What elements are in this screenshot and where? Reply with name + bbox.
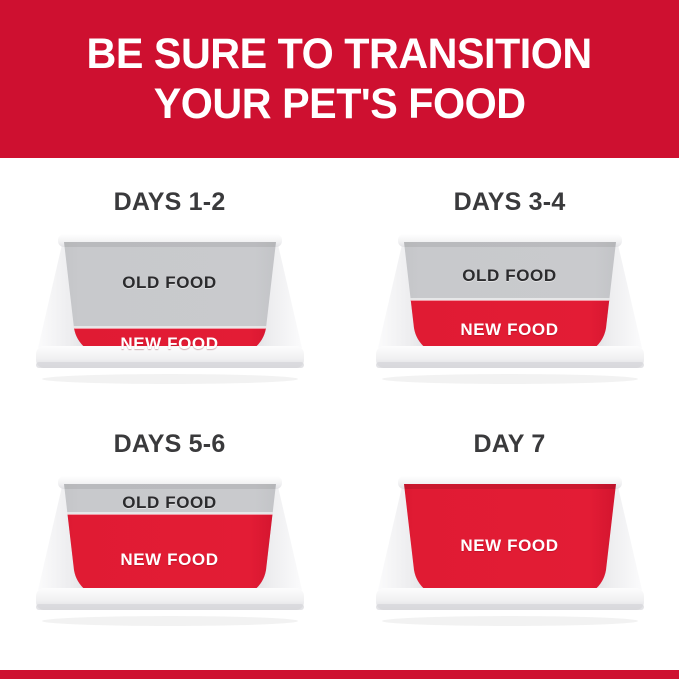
bowl-cell-days-5-6: DAYS 5-6 (0, 416, 339, 666)
bowl-cell-day-7: DAY 7 (340, 416, 679, 666)
day-label-1: DAYS 3-4 (340, 188, 679, 217)
bowl-cell-days-1-2: DAYS 1-2 (0, 174, 339, 424)
bowl-illustration-3: NEW FOOD (368, 466, 652, 628)
bowl-illustration-0: OLD FOOD NEW FOOD (28, 224, 312, 386)
bowl-graphic-1 (368, 224, 652, 386)
bowl-graphic-3 (368, 466, 652, 628)
headline-line-1: BE SURE TO TRANSITION (87, 29, 592, 79)
bowl-grid: DAYS 1-2 (0, 158, 679, 670)
day-label-2: DAYS 5-6 (0, 430, 339, 459)
headline-line-2: YOUR PET'S FOOD (154, 79, 526, 129)
bowl-cell-days-3-4: DAYS 3-4 (340, 174, 679, 424)
day-label-0: DAYS 1-2 (0, 188, 339, 217)
day-label-3: DAY 7 (340, 430, 679, 459)
bowl-graphic-0 (28, 224, 312, 386)
header-banner: BE SURE TO TRANSITION YOUR PET'S FOOD (0, 0, 679, 158)
bowl-illustration-1: OLD FOOD NEW FOOD (368, 224, 652, 386)
bowl-graphic-2 (28, 466, 312, 628)
pet-food-transition-infographic: BE SURE TO TRANSITION YOUR PET'S FOOD DA… (0, 0, 679, 679)
bowl-illustration-2: OLD FOOD NEW FOOD (28, 466, 312, 628)
footer-accent-bar (0, 670, 679, 679)
